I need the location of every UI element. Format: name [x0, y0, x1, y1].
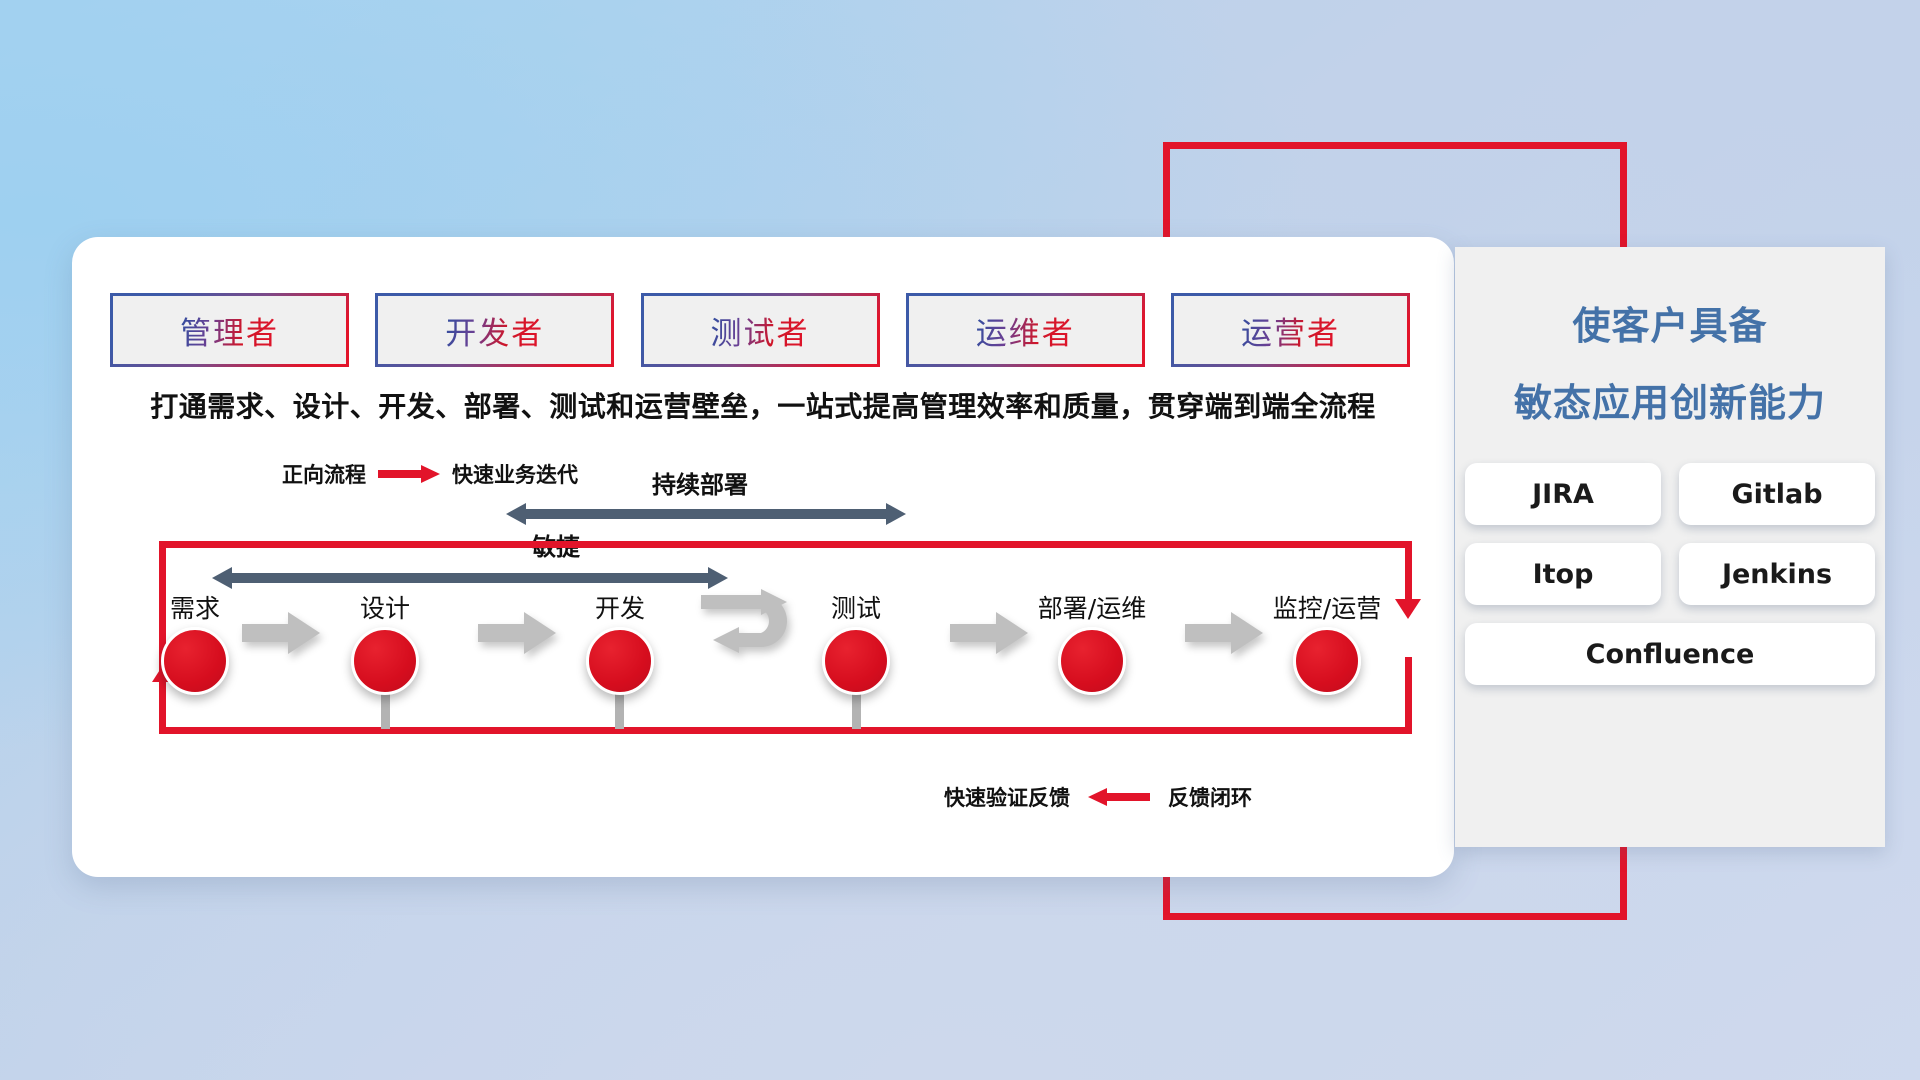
tool-button-confluence[interactable]: Confluence: [1465, 623, 1875, 685]
stage-dot-icon: [351, 627, 419, 695]
arrow-head-right-icon: [886, 503, 906, 525]
loop-arrow-head-down-icon: [1395, 599, 1421, 619]
stage-dot-icon: [1293, 627, 1361, 695]
panel-title-line1: 使客户具备: [1455, 295, 1885, 350]
arrow-bar: [522, 509, 890, 519]
connector-uturn-develop-test-icon: [699, 589, 811, 671]
connector-arrow-test-deploy-icon: [950, 612, 1028, 654]
stage-label: 需求: [130, 589, 260, 625]
loop-line-right: [1405, 541, 1412, 601]
stage-dot-icon: [161, 627, 229, 695]
loop-line-bottom: [159, 727, 1412, 734]
loop-line-right-lower: [1405, 657, 1412, 734]
tool-button-gitlab[interactable]: Gitlab: [1679, 463, 1875, 525]
main-diagram-card: 管理者 开发者 测试者 运维者 运营者: [72, 237, 1454, 877]
stage-dot-icon: [822, 627, 890, 695]
stage-dot-icon: [586, 627, 654, 695]
double-arrow-continuous-deployment: [506, 503, 906, 525]
stage-deploy-ops[interactable]: 部署/运维: [1027, 589, 1157, 695]
stage-label: 监控/运营: [1262, 589, 1392, 625]
double-arrow-agile: [212, 567, 728, 589]
tool-button-jenkins[interactable]: Jenkins: [1679, 543, 1875, 605]
stage-label: 部署/运维: [1027, 589, 1157, 625]
connector-arrow-deploy-monitor-icon: [1185, 612, 1263, 654]
flow-area: 持续部署 敏捷: [72, 237, 1454, 877]
stage-label: 开发: [555, 589, 685, 625]
slide-canvas: 管理者 开发者 测试者 运维者 运营者: [0, 0, 1920, 1080]
arrow-head-right-icon: [708, 567, 728, 589]
tool-button-jira[interactable]: JIRA: [1465, 463, 1661, 525]
arrow-bar: [228, 573, 712, 583]
stage-requirement[interactable]: 需求: [130, 589, 260, 695]
span-label-continuous-deployment: 持续部署: [652, 465, 748, 500]
stage-design[interactable]: 设计: [320, 589, 450, 695]
stage-develop[interactable]: 开发: [555, 589, 685, 695]
panel-title-line2: 敏态应用创新能力: [1455, 372, 1885, 427]
connector-arrow-design-develop-icon: [478, 612, 556, 654]
connector-arrow-requirement-design-icon: [242, 612, 320, 654]
tool-button-itop[interactable]: Itop: [1465, 543, 1661, 605]
stage-dot-icon: [1058, 627, 1126, 695]
tools-grid: JIRA Gitlab Itop Jenkins Confluence: [1455, 463, 1885, 685]
stage-monitor-operation[interactable]: 监控/运营: [1262, 589, 1392, 695]
loop-line-top: [159, 541, 1412, 548]
stage-label: 设计: [320, 589, 450, 625]
right-outcome-panel: 使客户具备 敏态应用创新能力 JIRA Gitlab Itop Jenkins …: [1455, 247, 1885, 847]
